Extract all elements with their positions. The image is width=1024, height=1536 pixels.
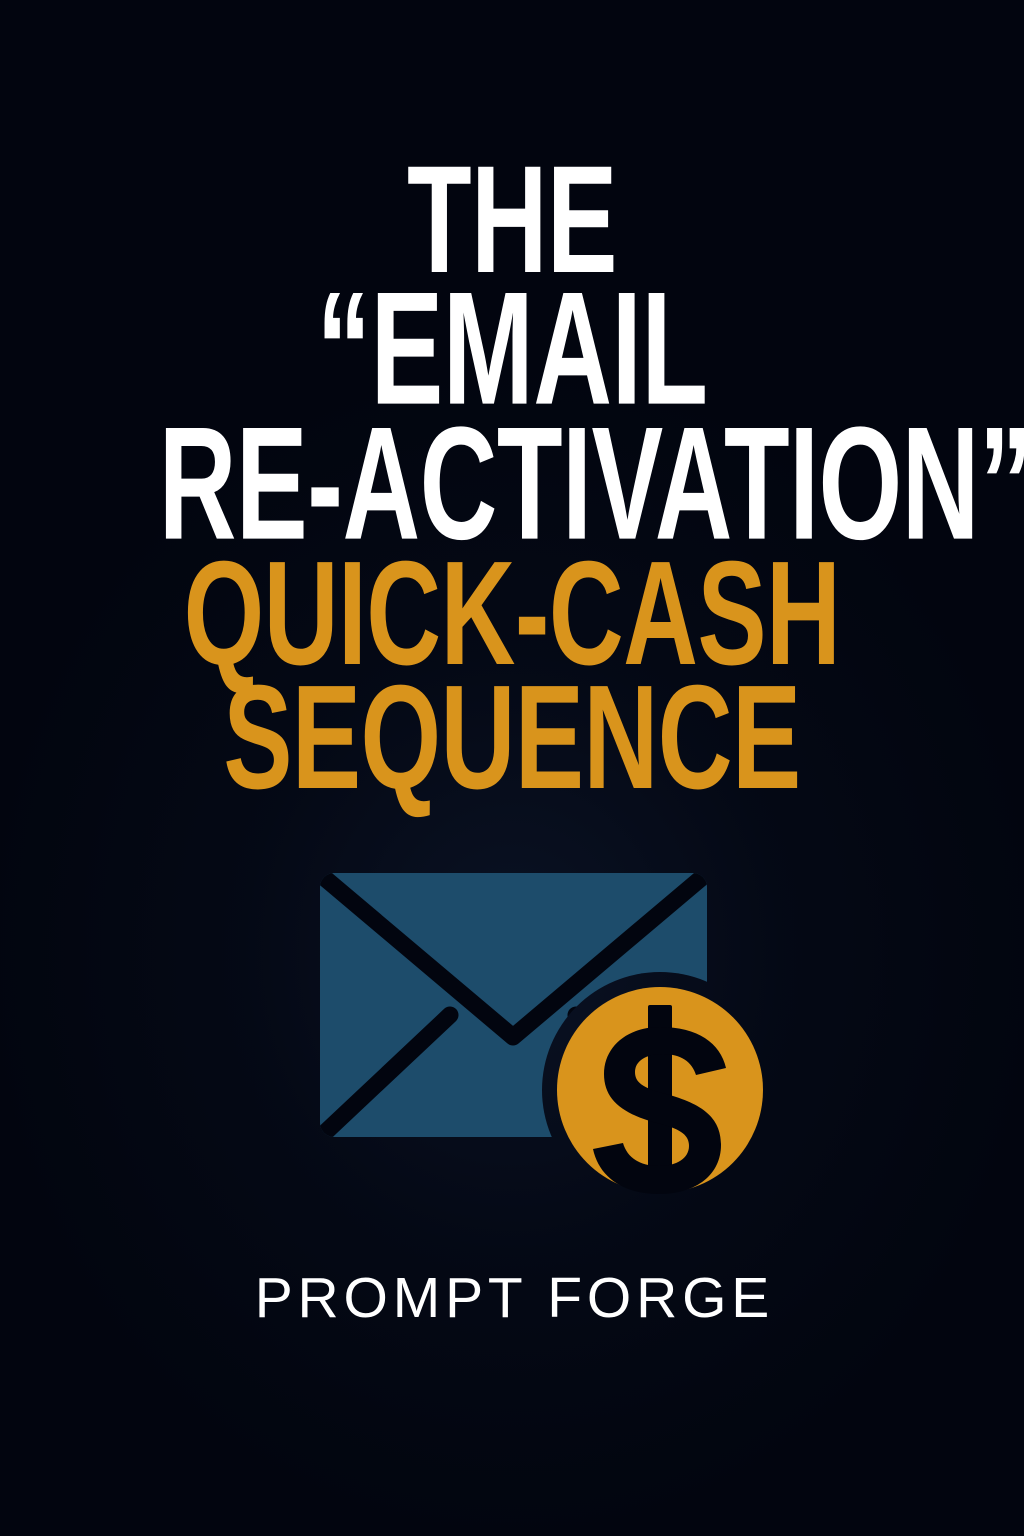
poster-title: THE “EMAIL RE-ACTIVATION” QUICK-CASH SEQ… <box>0 148 1024 808</box>
brand-name: PROMPT FORGE <box>0 1270 1024 1327</box>
dollar-coin-icon <box>557 987 763 1194</box>
envelope-money-illustration <box>300 855 800 1225</box>
poster-canvas: THE “EMAIL RE-ACTIVATION” QUICK-CASH SEQ… <box>0 0 1024 1536</box>
title-line-5-accent: SEQUENCE <box>154 667 871 808</box>
